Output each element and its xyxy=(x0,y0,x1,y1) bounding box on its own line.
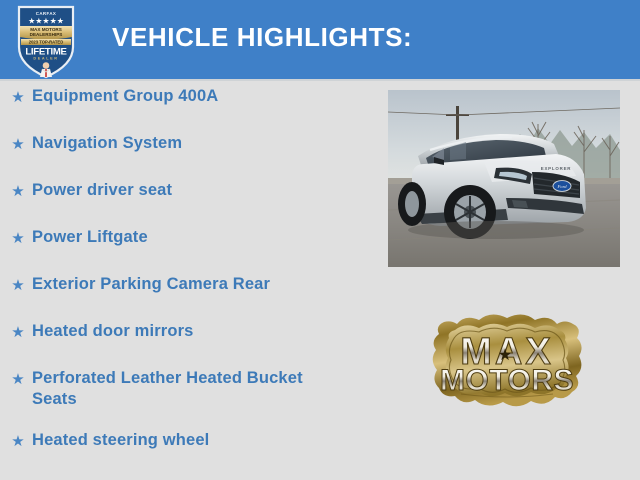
star-icon: ★ xyxy=(8,368,28,391)
badge-line3: 2023 TOP-RATED xyxy=(29,40,64,45)
logo-star-icon: ★ xyxy=(498,345,512,364)
star-icon: ★ xyxy=(8,321,28,344)
svg-text:Ford: Ford xyxy=(556,184,567,189)
list-item-label: Equipment Group 400A xyxy=(28,86,218,107)
list-item-label: Navigation System xyxy=(28,133,182,154)
svg-text:EXPLORER: EXPLORER xyxy=(541,166,572,171)
list-item-label: Heated door mirrors xyxy=(28,321,193,342)
badge-brand-label: CARFAX xyxy=(36,11,56,16)
list-item-label: Exterior Parking Camera Rear xyxy=(28,274,270,295)
list-item-label: Power driver seat xyxy=(28,180,172,201)
rear-wheel xyxy=(398,182,426,226)
badge-stars: ★★★★★ xyxy=(28,17,64,26)
star-icon: ★ xyxy=(8,133,28,156)
list-item-label: Perforated Leather Heated Bucket Seats xyxy=(28,368,304,410)
star-icon: ★ xyxy=(8,180,28,203)
list-item-label: Heated steering wheel xyxy=(28,430,209,451)
star-icon: ★ xyxy=(8,86,28,109)
carfax-lifetime-dealer-badge: CARFAX ★★★★★ MAX MOTORS DEALERSHIPS 2023… xyxy=(17,3,75,79)
logo-line-motors: MOTORS xyxy=(440,364,574,397)
vehicle-photo: EXPLORER Ford xyxy=(388,90,620,267)
list-item: ★ Power Liftgate xyxy=(0,227,372,274)
list-item: ★ Heated steering wheel xyxy=(0,430,372,477)
max-motors-logo: MAX ★ MOTORS xyxy=(425,308,590,418)
page-title: VEHICLE HIGHLIGHTS: xyxy=(112,22,412,53)
list-item: ★ Navigation System xyxy=(0,133,372,180)
star-icon: ★ xyxy=(8,430,28,453)
list-item: ★ Power driver seat xyxy=(0,180,372,227)
star-icon: ★ xyxy=(8,227,28,250)
badge-line2: DEALERSHIPS xyxy=(30,32,63,37)
list-item: ★ Exterior Parking Camera Rear xyxy=(0,274,372,321)
list-item: ★ Equipment Group 400A xyxy=(0,86,372,133)
list-item-label: Power Liftgate xyxy=(28,227,148,248)
badge-line5: DEALER xyxy=(33,57,58,61)
list-item: ★ Heated door mirrors xyxy=(0,321,372,368)
vehicle-highlights-list: ★ Equipment Group 400A ★ Navigation Syst… xyxy=(0,86,372,477)
header-divider xyxy=(0,79,640,81)
list-item: ★ Perforated Leather Heated Bucket Seats xyxy=(0,368,372,430)
star-icon: ★ xyxy=(8,274,28,297)
